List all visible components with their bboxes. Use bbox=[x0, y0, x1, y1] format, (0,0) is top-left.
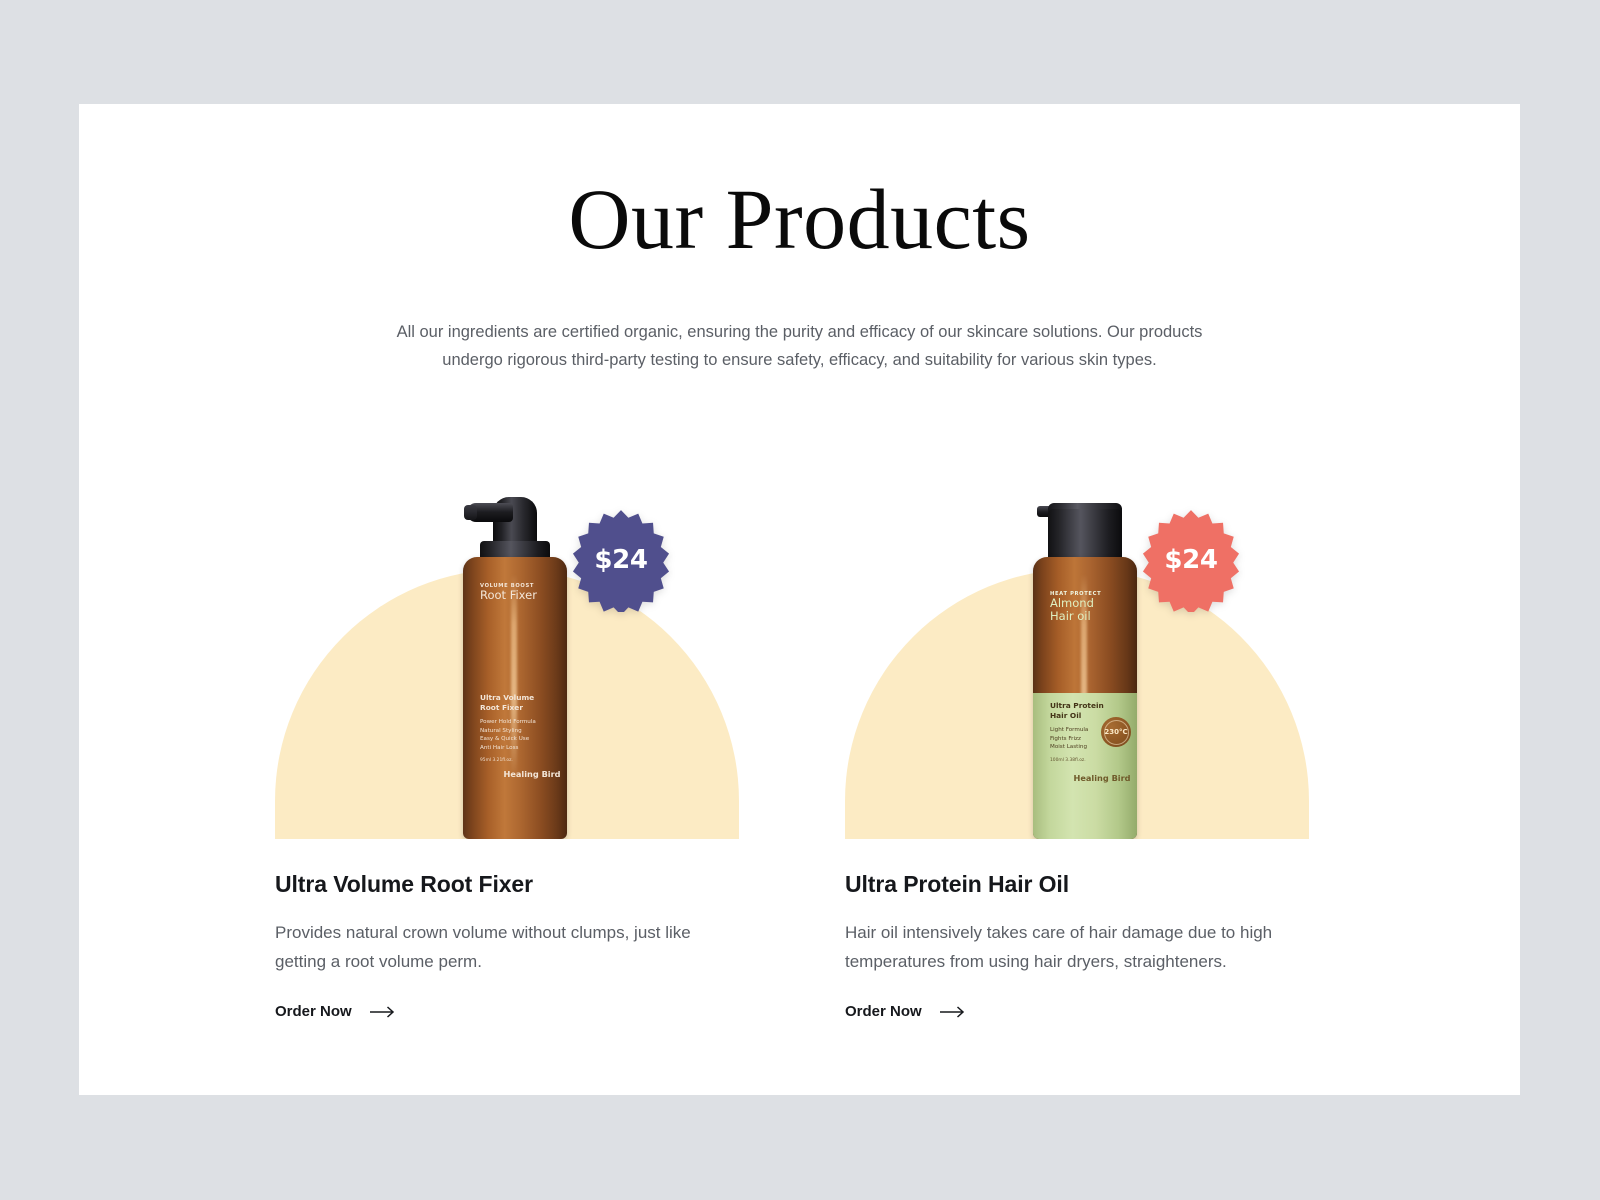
product-image-stage: VOLUME BOOST Root Fixer Ultra Volume Roo… bbox=[275, 412, 755, 839]
arrow-right-icon bbox=[940, 1006, 966, 1018]
bottle-green-label-panel bbox=[1033, 693, 1137, 839]
seal-ring bbox=[1104, 720, 1129, 745]
product-title: Ultra Volume Root Fixer bbox=[275, 871, 755, 898]
heat-protect-seal: 230°C bbox=[1101, 717, 1131, 747]
products-grid: VOLUME BOOST Root Fixer Ultra Volume Roo… bbox=[275, 412, 1324, 1021]
arrow-right-icon bbox=[370, 1006, 396, 1018]
product-bottle-image: VOLUME BOOST Root Fixer Ultra Volume Roo… bbox=[463, 459, 567, 839]
price-label: $24 bbox=[594, 545, 647, 575]
price-label: $24 bbox=[1164, 545, 1217, 575]
product-description: Hair oil intensively takes care of hair … bbox=[845, 918, 1285, 976]
page-canvas: Our Products All our ingredients are cer… bbox=[0, 0, 1600, 1200]
bottle-glass-highlight bbox=[511, 574, 517, 777]
product-image-stage: HEAT PROTECT Almond Hair oil Ultra Prote… bbox=[845, 412, 1325, 839]
spray-nozzle-tip bbox=[464, 505, 477, 520]
order-now-label: Order Now bbox=[845, 1003, 922, 1020]
bottle-body bbox=[463, 557, 567, 839]
bottle-body bbox=[1033, 557, 1137, 839]
price-badge[interactable]: $24 bbox=[569, 508, 673, 612]
order-now-label: Order Now bbox=[275, 1003, 352, 1020]
order-now-link[interactable]: Order Now bbox=[275, 1003, 396, 1020]
product-description: Provides natural crown volume without cl… bbox=[275, 918, 715, 976]
section-subtitle: All our ingredients are certified organi… bbox=[375, 318, 1225, 374]
our-products-section: Our Products All our ingredients are cer… bbox=[79, 104, 1520, 1095]
product-card-hair-oil: HEAT PROTECT Almond Hair oil Ultra Prote… bbox=[845, 412, 1325, 1021]
price-badge[interactable]: $24 bbox=[1139, 508, 1243, 612]
page-title: Our Products bbox=[79, 176, 1520, 262]
product-bottle-image: HEAT PROTECT Almond Hair oil Ultra Prote… bbox=[1033, 459, 1137, 839]
order-now-link[interactable]: Order Now bbox=[845, 1003, 966, 1020]
product-title: Ultra Protein Hair Oil bbox=[845, 871, 1325, 898]
product-card-root-fixer: VOLUME BOOST Root Fixer Ultra Volume Roo… bbox=[275, 412, 755, 1021]
